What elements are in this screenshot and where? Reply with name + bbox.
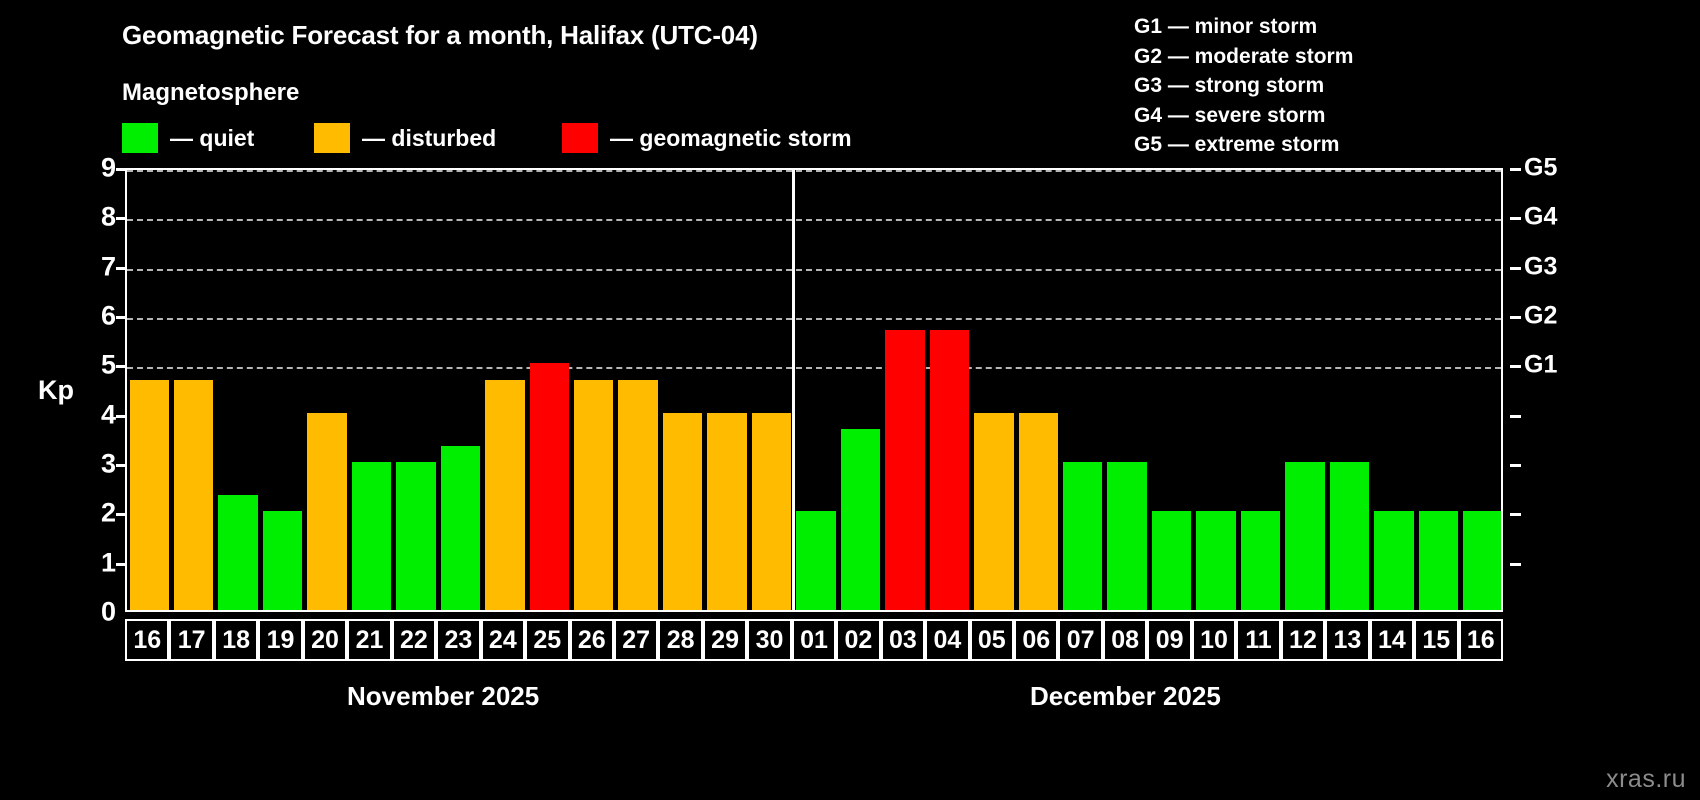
bar-december-04[interactable]	[930, 330, 969, 610]
bar-december-10[interactable]	[1196, 511, 1235, 610]
g-tick-mark-g5	[1510, 168, 1521, 171]
bar-december-02[interactable]	[841, 429, 880, 610]
bar-november-23[interactable]	[441, 446, 480, 610]
date-cell-december-10[interactable]: 10	[1192, 619, 1236, 661]
bar-december-16[interactable]	[1463, 511, 1502, 610]
month-caption-november: November 2025	[347, 681, 539, 712]
bar-december-13[interactable]	[1330, 462, 1369, 610]
g-scale-legend: G1 — minor stormG2 — moderate stormG3 — …	[1134, 12, 1353, 160]
bar-december-07[interactable]	[1063, 462, 1102, 610]
g-minor-tick-2	[1510, 513, 1521, 516]
date-cell-november-29[interactable]: 29	[703, 619, 747, 661]
date-cell-november-25[interactable]: 25	[525, 619, 569, 661]
bar-december-11[interactable]	[1241, 511, 1280, 610]
bar-december-12[interactable]	[1285, 462, 1324, 610]
date-cell-november-23[interactable]: 23	[436, 619, 480, 661]
bars-layer	[127, 170, 1501, 610]
date-cell-november-26[interactable]: 26	[570, 619, 614, 661]
y-tick-label-4: 4	[76, 399, 116, 430]
magnetosphere-legend: — quiet— disturbed— geomagnetic storm	[122, 122, 982, 154]
legend-item-disturbed: — disturbed	[314, 123, 496, 153]
date-cell-december-13[interactable]: 13	[1325, 619, 1369, 661]
g-scale-line-1: G1 — minor storm	[1134, 12, 1353, 42]
bar-november-27[interactable]	[618, 380, 657, 610]
month-divider-line	[792, 170, 795, 610]
g-tick-mark-g3	[1510, 267, 1521, 270]
bar-december-03[interactable]	[885, 330, 924, 610]
date-cell-november-24[interactable]: 24	[481, 619, 525, 661]
bar-november-19[interactable]	[263, 511, 302, 610]
bar-december-06[interactable]	[1019, 413, 1058, 610]
date-cell-december-11[interactable]: 11	[1236, 619, 1280, 661]
g-scale-line-2: G2 — moderate storm	[1134, 42, 1353, 72]
bar-december-15[interactable]	[1419, 511, 1458, 610]
bar-november-30[interactable]	[752, 413, 791, 610]
date-cell-december-08[interactable]: 08	[1103, 619, 1147, 661]
bar-november-26[interactable]	[574, 380, 613, 610]
date-cell-december-09[interactable]: 09	[1147, 619, 1191, 661]
date-cell-december-07[interactable]: 07	[1058, 619, 1102, 661]
y-axis-labels: 0123456789	[70, 168, 116, 612]
watermark: xras.ru	[1606, 765, 1686, 794]
bar-november-17[interactable]	[174, 380, 213, 610]
bar-december-08[interactable]	[1107, 462, 1146, 610]
g-axis-labels: G1G2G3G4G5	[1510, 168, 1590, 612]
g-scale-line-4: G4 — severe storm	[1134, 101, 1353, 131]
bar-november-21[interactable]	[352, 462, 391, 610]
y-axis-title: Kp	[38, 375, 74, 406]
page-title: Geomagnetic Forecast for a month, Halifa…	[122, 20, 758, 51]
y-tick-label-7: 7	[76, 251, 116, 282]
magnetosphere-label: Magnetosphere	[122, 79, 299, 107]
date-cell-december-14[interactable]: 14	[1370, 619, 1414, 661]
g-tick-label-g1: G1	[1524, 351, 1557, 380]
bar-november-29[interactable]	[707, 413, 746, 610]
date-cell-november-30[interactable]: 30	[747, 619, 791, 661]
y-tick-label-5: 5	[76, 350, 116, 381]
bar-december-14[interactable]	[1374, 511, 1413, 610]
date-cell-december-02[interactable]: 02	[836, 619, 880, 661]
g-tick-label-g2: G2	[1524, 302, 1557, 331]
date-cell-november-19[interactable]: 19	[258, 619, 302, 661]
date-cell-november-27[interactable]: 27	[614, 619, 658, 661]
legend-item-storm: — geomagnetic storm	[562, 123, 852, 153]
date-cell-november-17[interactable]: 17	[169, 619, 213, 661]
bar-november-18[interactable]	[218, 495, 257, 610]
y-tick-label-1: 1	[76, 547, 116, 578]
bar-november-20[interactable]	[307, 413, 346, 610]
bar-november-25[interactable]	[530, 363, 569, 610]
date-cell-november-20[interactable]: 20	[303, 619, 347, 661]
y-tick-label-0: 0	[76, 597, 116, 628]
date-cell-december-16[interactable]: 16	[1459, 619, 1503, 661]
date-cell-november-28[interactable]: 28	[658, 619, 702, 661]
plot-area	[125, 168, 1503, 612]
month-caption-december: December 2025	[1030, 681, 1221, 712]
date-cell-december-01[interactable]: 01	[792, 619, 836, 661]
bar-november-22[interactable]	[396, 462, 435, 610]
date-cell-november-18[interactable]: 18	[214, 619, 258, 661]
date-cell-december-06[interactable]: 06	[1014, 619, 1058, 661]
g-tick-mark-g2	[1510, 316, 1521, 319]
date-cell-december-04[interactable]: 04	[925, 619, 969, 661]
y-tick-label-2: 2	[76, 498, 116, 529]
legend-label-disturbed: — disturbed	[362, 125, 496, 152]
bar-november-28[interactable]	[663, 413, 702, 610]
legend-swatch-disturbed	[314, 123, 350, 153]
g-tick-label-g5: G5	[1524, 154, 1557, 183]
g-tick-mark-g4	[1510, 217, 1521, 220]
date-cell-november-21[interactable]: 21	[347, 619, 391, 661]
y-tick-label-6: 6	[76, 301, 116, 332]
legend-swatch-quiet	[122, 123, 158, 153]
g-tick-mark-g1	[1510, 365, 1521, 368]
bar-december-01[interactable]	[796, 511, 835, 610]
bar-november-24[interactable]	[485, 380, 524, 610]
date-cell-november-22[interactable]: 22	[392, 619, 436, 661]
g-minor-tick-1	[1510, 563, 1521, 566]
bar-november-16[interactable]	[130, 380, 169, 610]
legend-label-storm: — geomagnetic storm	[610, 125, 852, 152]
legend-swatch-storm	[562, 123, 598, 153]
y-tick-label-9: 9	[76, 153, 116, 184]
bar-december-05[interactable]	[974, 413, 1013, 610]
legend-item-quiet: — quiet	[122, 123, 254, 153]
g-scale-line-5: G5 — extreme storm	[1134, 130, 1353, 160]
y-tick-label-3: 3	[76, 449, 116, 480]
date-cell-december-15[interactable]: 15	[1414, 619, 1458, 661]
date-cell-december-05[interactable]: 05	[970, 619, 1014, 661]
g-minor-tick-3	[1510, 464, 1521, 467]
g-minor-tick-4	[1510, 415, 1521, 418]
g-tick-label-g4: G4	[1524, 203, 1557, 232]
date-cell-december-03[interactable]: 03	[881, 619, 925, 661]
g-scale-line-3: G3 — strong storm	[1134, 71, 1353, 101]
g-tick-label-g3: G3	[1524, 252, 1557, 281]
date-cell-november-16[interactable]: 16	[125, 619, 169, 661]
bar-december-09[interactable]	[1152, 511, 1191, 610]
date-axis: 1617181920212223242526272829300102030405…	[125, 619, 1503, 661]
legend-label-quiet: — quiet	[170, 125, 254, 152]
y-tick-label-8: 8	[76, 202, 116, 233]
date-cell-december-12[interactable]: 12	[1281, 619, 1325, 661]
